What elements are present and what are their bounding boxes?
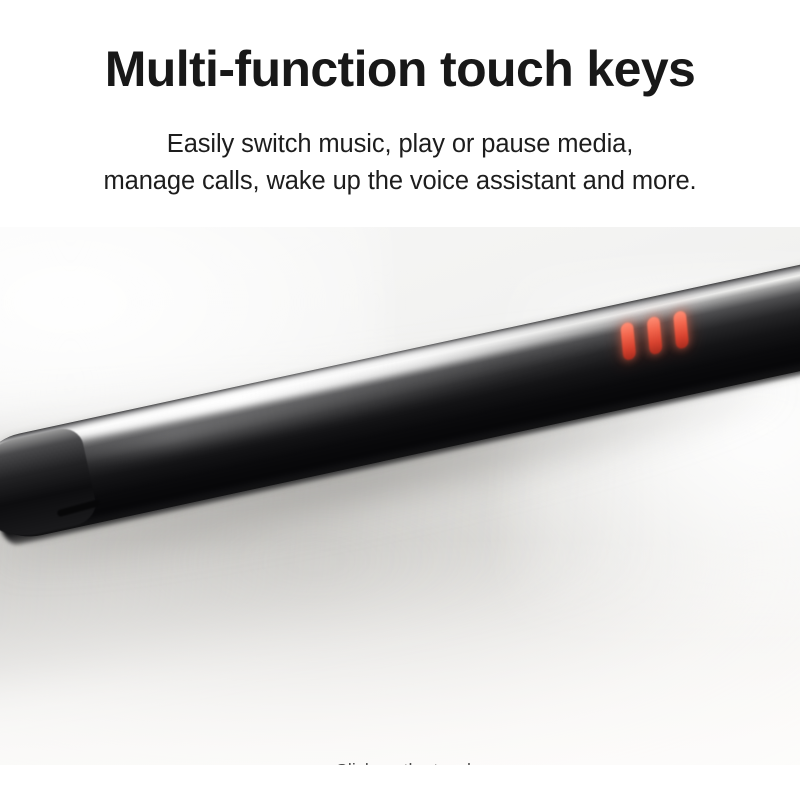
page-subtitle: Easily switch music, play or pause media… [0, 126, 800, 200]
gesture-caption-grid: Take off your glasses Disconnect Bluetoo… [0, 749, 800, 765]
led-indicator-icon [620, 321, 636, 361]
led-indicator-icon [673, 310, 689, 350]
subtitle-line-2: manage calls, wake up the voice assistan… [0, 163, 800, 200]
subtitle-line-1: Easily switch music, play or pause media… [0, 126, 800, 163]
led-indicator-icon [647, 316, 663, 356]
marketing-image: Multi-function touch keys Easily switch … [0, 0, 800, 800]
header-text-block: Multi-function touch keys Easily switch … [0, 0, 800, 227]
footer-white-band [0, 765, 800, 800]
product-photo: Take off your glasses Disconnect Bluetoo… [0, 227, 800, 765]
page-title: Multi-function touch keys [0, 40, 800, 98]
